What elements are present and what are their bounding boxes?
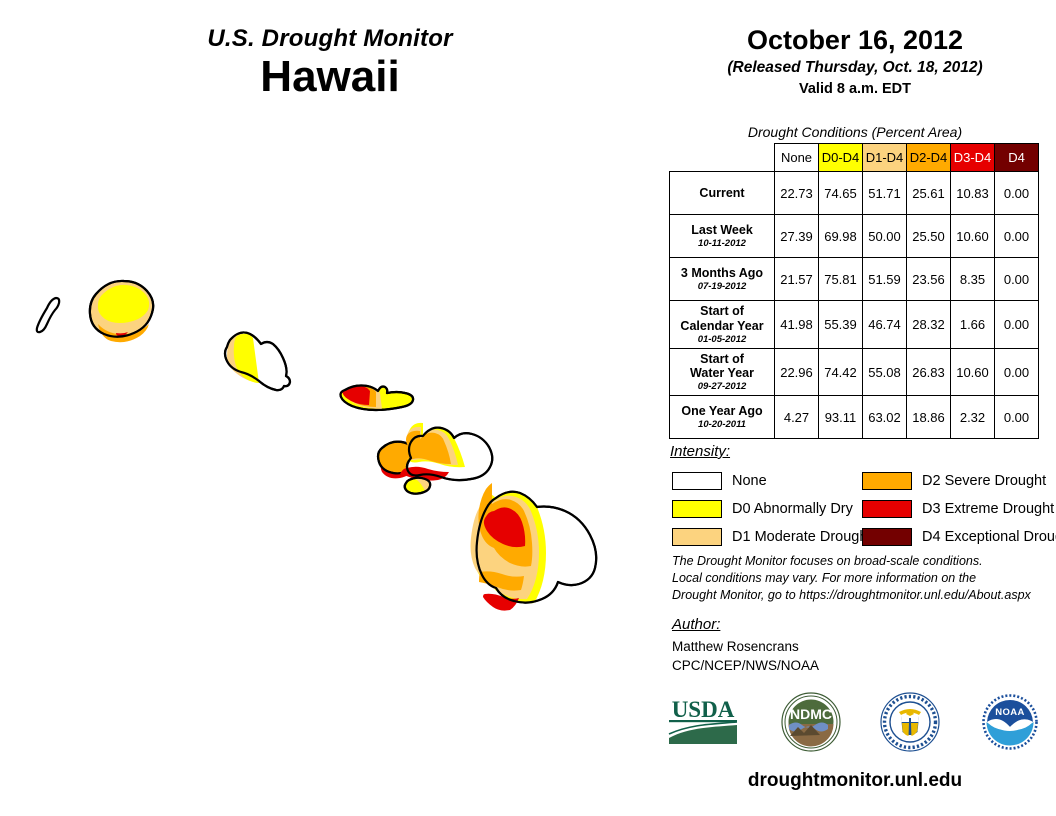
row-label: One Year Ago10-20-2011 [670,396,775,439]
legend-swatch [672,472,722,490]
release-date: (Released Thursday, Oct. 18, 2012) [660,59,1050,77]
island-maui [400,423,492,481]
table-cell: 41.98 [775,301,819,349]
table-row: Current22.7374.6551.7125.6110.830.00 [670,172,1039,215]
table-cell: 63.02 [863,396,907,439]
legend-label: D0 Abnormally Dry [732,501,853,517]
legend-item: D3 Extreme Drought [862,496,1056,521]
table-cell: 4.27 [775,396,819,439]
table-cell: 25.61 [907,172,951,215]
usda-logo-text: USDA [672,697,735,722]
row-label: Start ofCalendar Year01-05-2012 [670,301,775,349]
table-cell: 10.60 [951,348,995,396]
region-title: Hawaii [120,53,540,101]
row-label-name: Last Week [674,223,770,238]
hawaii-drought-map [0,240,660,680]
row-label-name: One Year Ago [674,404,770,419]
table-header-d3-d4: D3-D4 [951,144,995,172]
noaa-logo: NOAA [980,692,1040,757]
table-cell: 0.00 [995,396,1039,439]
commerce-seal [880,692,940,757]
table-header-d2-d4: D2-D4 [907,144,951,172]
row-label-name: Current [674,186,770,201]
row-label-name: Calendar Year [674,319,770,334]
table-row: One Year Ago10-20-20114.2793.1163.0218.8… [670,396,1039,439]
row-label-date: 10-11-2012 [674,238,770,249]
table-header-row: NoneD0-D4D1-D4D2-D4D3-D4D4 [670,144,1039,172]
legend-item: D0 Abnormally Dry [672,496,871,521]
page-title: U.S. Drought Monitor [120,26,540,51]
table-header-d1-d4: D1-D4 [863,144,907,172]
ndmc-logo: NDMC [781,692,841,757]
table-row: Last Week10-11-201227.3969.9850.0025.501… [670,215,1039,258]
legend-label: D2 Severe Drought [922,473,1046,489]
legend-label: None [732,473,767,489]
table-cell: 50.00 [863,215,907,258]
valid-time: Valid 8 a.m. EDT [660,81,1050,97]
legend-item: D2 Severe Drought [862,468,1056,493]
table-cell: 23.56 [907,258,951,301]
table-cell: 18.86 [907,396,951,439]
table-cell: 75.81 [819,258,863,301]
table-cell: 55.39 [819,301,863,349]
intensity-heading: Intensity: [670,443,730,460]
legend-item: None [672,468,871,493]
table-cell: 46.74 [863,301,907,349]
legend-item: D4 Exceptional Drought [862,524,1056,549]
map-svg [0,240,660,680]
row-label-date: 01-05-2012 [674,334,770,345]
author-affiliation: CPC/NCEP/NWS/NOAA [672,656,819,675]
legend-label: D1 Moderate Drought [732,529,871,545]
footer-url: droughtmonitor.unl.edu [660,770,1050,792]
table-cell: 25.50 [907,215,951,258]
disclaimer-line-3: Drought Monitor, go to https://droughtmo… [672,587,1052,604]
ndmc-logo-text: NDMC [790,706,832,722]
date-block: October 16, 2012 (Released Thursday, Oct… [660,26,1050,97]
legend-label: D4 Exceptional Drought [922,529,1056,545]
legend-swatch [862,500,912,518]
table-row: Start ofCalendar Year01-05-201241.9855.3… [670,301,1039,349]
table-body: Current22.7374.6551.7125.6110.830.00Last… [670,172,1039,439]
table-cell: 93.11 [819,396,863,439]
legend-swatch [862,528,912,546]
island-niihau [37,298,59,332]
logo-row: USDA NDMC [665,692,1040,757]
table-cell: 8.35 [951,258,995,301]
table-cell: 22.96 [775,348,819,396]
row-label-date: 07-19-2012 [674,281,770,292]
island-kauai [90,281,153,342]
disclaimer-line-2: Local conditions may vary. For more info… [672,570,1052,587]
legend-item: D1 Moderate Drought [672,524,871,549]
row-label-date: 10-20-2011 [674,419,770,430]
legend-swatch [672,500,722,518]
table-cell: 26.83 [907,348,951,396]
drought-conditions-table: NoneD0-D4D1-D4D2-D4D3-D4D4 Current22.737… [669,143,1039,439]
table-header-d4: D4 [995,144,1039,172]
table-caption: Drought Conditions (Percent Area) [660,124,1050,140]
legend-swatch [862,472,912,490]
drought-monitor-page: U.S. Drought Monitor Hawaii October 16, … [0,0,1056,816]
row-label: Start ofWater Year09-27-2012 [670,348,775,396]
table-cell: 27.39 [775,215,819,258]
table-cell: 0.00 [995,215,1039,258]
row-label-name: 3 Months Ago [674,266,770,281]
disclaimer-text: The Drought Monitor focuses on broad-sca… [672,553,1052,604]
island-molokai [341,386,414,411]
table-corner-cell [670,144,775,172]
row-label-name: Start of [674,304,770,319]
table-cell: 1.66 [951,301,995,349]
row-label: 3 Months Ago07-19-2012 [670,258,775,301]
table-cell: 55.08 [863,348,907,396]
row-label-name: Start of [674,352,770,367]
table-cell: 51.71 [863,172,907,215]
table-cell: 10.83 [951,172,995,215]
row-label: Last Week10-11-2012 [670,215,775,258]
table-cell: 28.32 [907,301,951,349]
table-cell: 22.73 [775,172,819,215]
noaa-logo-text: NOAA [995,707,1025,718]
table-row: 3 Months Ago07-19-201221.5775.8151.5923.… [670,258,1039,301]
table-cell: 69.98 [819,215,863,258]
author-name: Matthew Rosencrans [672,637,819,656]
table-row: Start ofWater Year09-27-201222.9674.4255… [670,348,1039,396]
table-cell: 0.00 [995,172,1039,215]
island-oahu [225,332,290,390]
author-heading: Author: [672,616,720,633]
table-cell: 0.00 [995,348,1039,396]
table-header-d0-d4: D0-D4 [819,144,863,172]
table-cell: 2.32 [951,396,995,439]
table-cell: 74.65 [819,172,863,215]
table-cell: 51.59 [863,258,907,301]
disclaimer-line-1: The Drought Monitor focuses on broad-sca… [672,553,1052,570]
valid-date: October 16, 2012 [660,26,1050,56]
table-header-none: None [775,144,819,172]
table-cell: 0.00 [995,258,1039,301]
table-cell: 21.57 [775,258,819,301]
legend-column-right: D2 Severe DroughtD3 Extreme DroughtD4 Ex… [862,468,1056,552]
table-cell: 0.00 [995,301,1039,349]
title-block: U.S. Drought Monitor Hawaii [120,26,540,102]
table-cell: 74.42 [819,348,863,396]
row-label-name: Water Year [674,366,770,381]
legend-label: D3 Extreme Drought [922,501,1054,517]
table-cell: 10.60 [951,215,995,258]
legend-swatch [672,528,722,546]
row-label: Current [670,172,775,215]
row-label-date: 09-27-2012 [674,381,770,392]
island-kahoolawe [405,478,430,494]
island-hawaii [471,483,597,611]
author-block: Matthew Rosencrans CPC/NCEP/NWS/NOAA [672,637,819,675]
usda-logo: USDA [665,694,741,755]
legend-column-left: NoneD0 Abnormally DryD1 Moderate Drought [672,468,871,552]
